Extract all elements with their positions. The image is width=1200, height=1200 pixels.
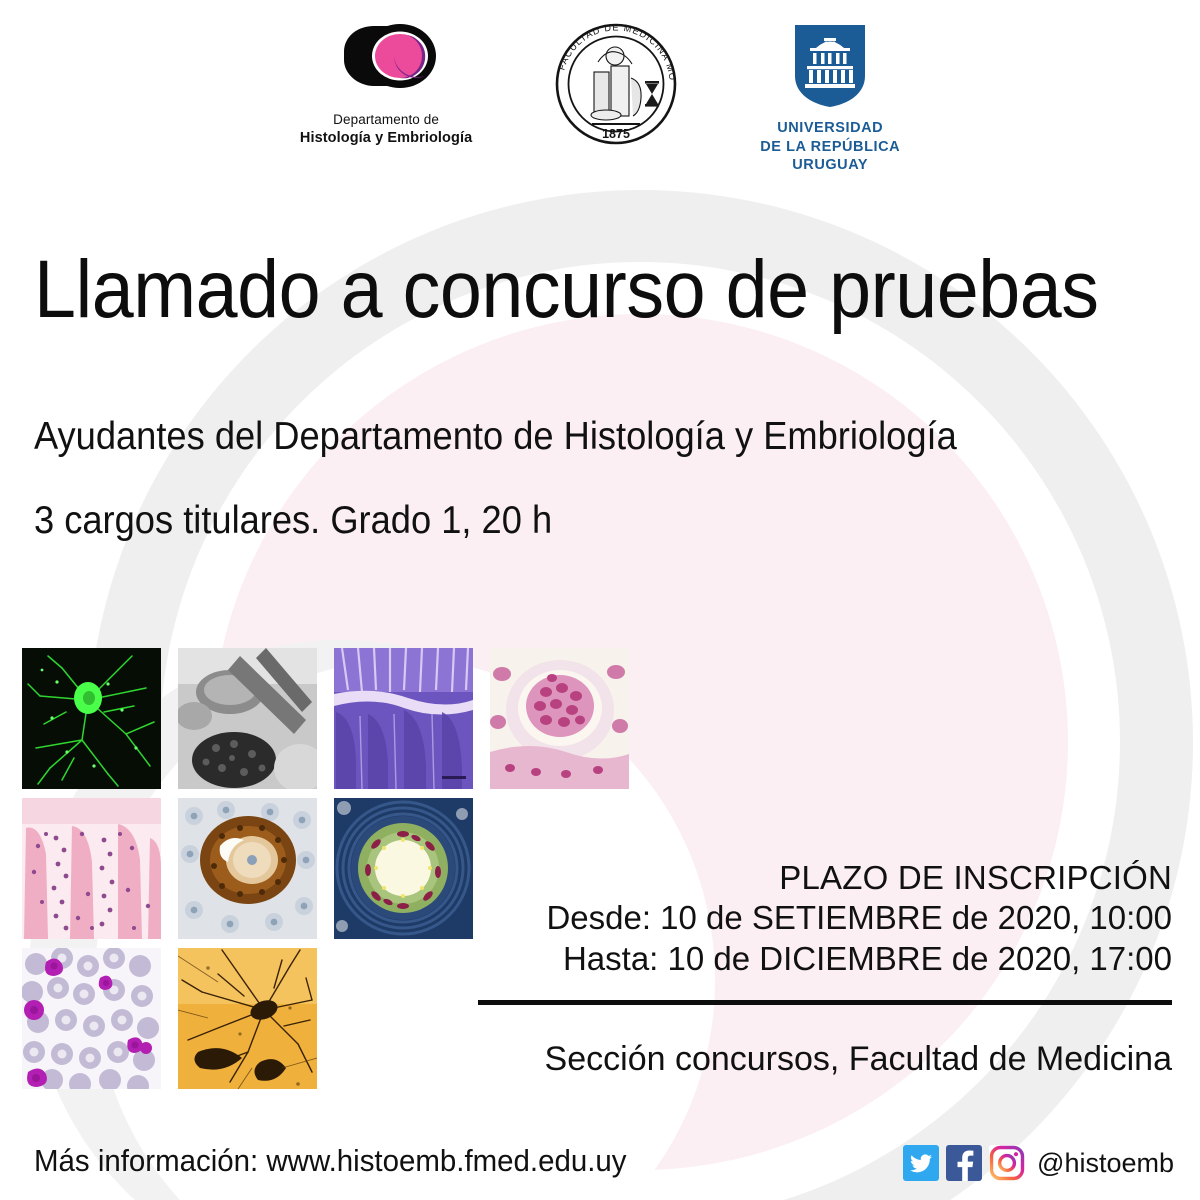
instagram-icon[interactable] [989, 1145, 1025, 1181]
subtitle-position: Ayudantes del Departamento de Histología… [34, 415, 1104, 459]
department-caption-line2: Histología y Embriología [300, 129, 472, 147]
gallery-image-artery-trichrome [334, 798, 473, 939]
gallery-image-renal-glomerulus [490, 648, 629, 789]
poster-root: Departamento de Histología y Embriología… [0, 0, 1200, 1200]
department-caption-line1: Departamento de [300, 112, 472, 129]
gallery-image-bone-marrow [22, 798, 161, 939]
more-info-text[interactable]: Más información: www.histoemb.fmed.edu.u… [34, 1143, 627, 1179]
page-title: Llamado a concurso de pruebas [34, 248, 1083, 332]
gallery-image-ovarian-follicle-ihc [178, 798, 317, 939]
logo-row: Departamento de Histología y Embriología… [0, 22, 1200, 172]
udelar-shield-icon [792, 22, 868, 110]
registration-deadline-block: PLAZO DE INSCRIPCIÓN Desde: 10 de SETIEM… [472, 858, 1172, 979]
medicine-seal-icon: FACULTAD DE MEDICINA MONTEVIDEO [554, 22, 678, 146]
divider [478, 1000, 1172, 1005]
gallery-image-electron-micrograph [178, 648, 317, 789]
udelar-caption-line2: DE LA REPÚBLICA [760, 138, 900, 157]
facebook-icon[interactable] [946, 1145, 982, 1181]
subtitle-vacancies: 3 cargos titulares. Grado 1, 20 h [34, 499, 1104, 543]
faculty-of-medicine-seal: FACULTAD DE MEDICINA MONTEVIDEO [554, 22, 678, 146]
gallery-image-he-purple-tissue [334, 648, 473, 789]
udelar-caption: UNIVERSIDAD DE LA REPÚBLICA URUGUAY [760, 119, 900, 175]
deadline-title: PLAZO DE INSCRIPCIÓN [472, 858, 1172, 898]
deadline-to: Hasta: 10 de DICIEMBRE de 2020, 17:00 [472, 939, 1172, 979]
section-office: Sección concursos, Facultad de Medicina [452, 1040, 1172, 1079]
seal-year: 1875 [602, 127, 630, 141]
gallery-image-fluorescent-neuron [22, 648, 161, 789]
gallery-image-blood-smear [22, 948, 161, 1089]
udelar-caption-line3: URUGUAY [760, 156, 900, 175]
poster-content: Departamento de Histología y Embriología… [0, 0, 1200, 1200]
twitter-icon[interactable] [903, 1145, 939, 1181]
social-handle[interactable]: @histoemb [1037, 1148, 1174, 1179]
department-caption: Departamento de Histología y Embriología [300, 112, 472, 147]
gallery-row [22, 648, 662, 789]
department-logo: Departamento de Histología y Embriología [300, 22, 472, 147]
udelar-logo: UNIVERSIDAD DE LA REPÚBLICA URUGUAY [760, 22, 900, 175]
microscope-objective-icon [322, 22, 450, 104]
deadline-from: Desde: 10 de SETIEMBRE de 2020, 10:00 [472, 898, 1172, 938]
udelar-caption-line1: UNIVERSIDAD [760, 119, 900, 138]
social-links: @histoemb [903, 1145, 1174, 1181]
gallery-image-golgi-neuron [178, 948, 317, 1089]
